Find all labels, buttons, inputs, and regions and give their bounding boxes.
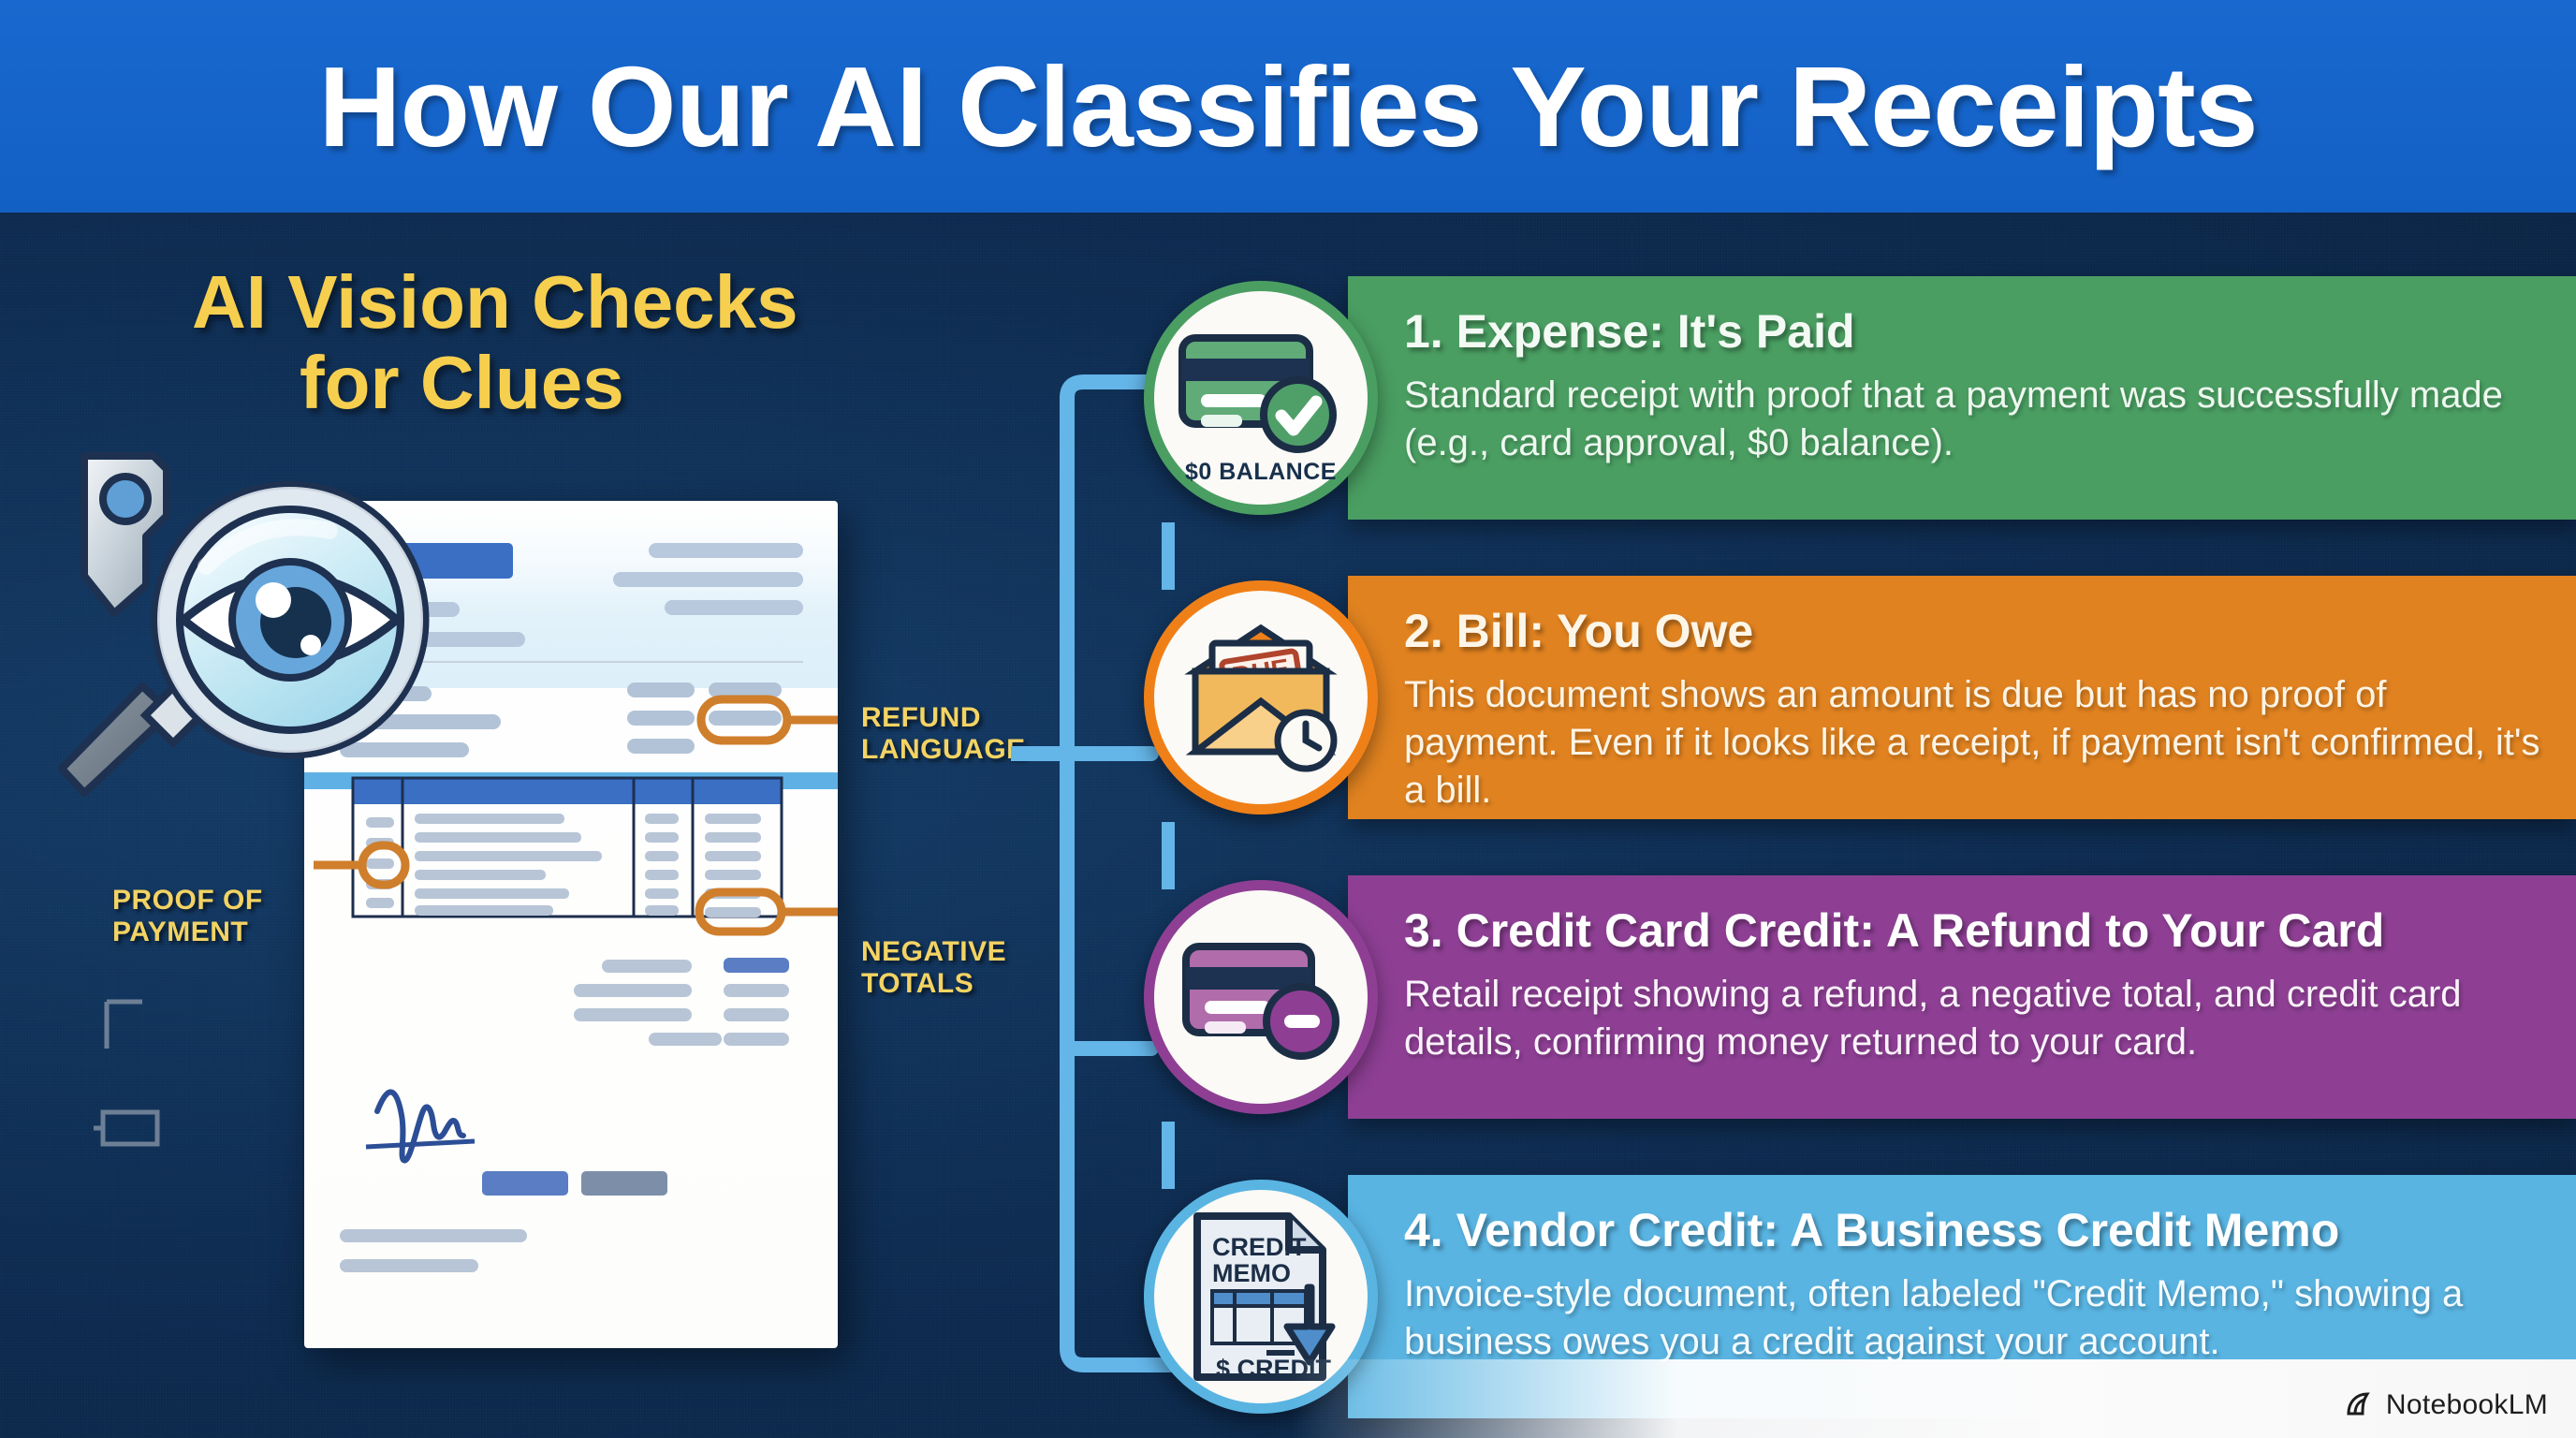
category-band-bill[interactable]: 2. Bill: You Owe This document shows an … [1348,576,2576,819]
category-band-credit-card-credit[interactable]: 3. Credit Card Credit: A Refund to Your … [1348,875,2576,1119]
notebooklm-logo-icon [2345,1389,2377,1421]
left-title-line1: AI Vision Checks [192,260,798,344]
callout-line-1: PROOF OF [112,885,337,917]
category-description: This document shows an amount is due but… [1404,671,2548,815]
page-title: How Our AI Classifies Your Receipts [318,41,2257,172]
category-band-expense[interactable]: 1. Expense: It's Paid Standard receipt w… [1348,276,2576,520]
category-description: Retail receipt showing a refund, a negat… [1404,971,2548,1066]
svg-text:CREDIT: CREDIT [1212,1233,1307,1261]
envelope-due-clock-icon: DUE [1167,604,1354,791]
badge-expense[interactable]: $0 BALANCE [1144,281,1378,515]
category-title: 1. Expense: It's Paid [1404,304,2548,359]
category-description: Standard receipt with proof that a payme… [1404,372,2548,467]
decorative-bracket-icon [94,992,206,1217]
left-section-title: AI Vision Checks for Clues [192,262,1034,424]
callout-proof-of-payment: PROOF OF PAYMENT [112,885,337,947]
callout-line-2: PAYMENT [112,917,337,948]
credit-card-minus-icon [1167,903,1354,1091]
badge-bill[interactable]: DUE [1144,580,1378,814]
category-title: 4. Vendor Credit: A Business Credit Memo [1404,1203,2548,1257]
left-title-line2: for Clues [300,343,1034,423]
infographic-canvas: How Our AI Classifies Your Receipts AI V… [0,0,2576,1438]
watermark: NotebookLM [2345,1389,2548,1421]
watermark-text: NotebookLM [2386,1389,2548,1421]
magnifier-eye-icon [56,426,449,819]
category-title: 3. Credit Card Credit: A Refund to Your … [1404,903,2548,958]
svg-text:MEMO: MEMO [1212,1259,1291,1287]
category-title: 2. Bill: You Owe [1404,604,2548,658]
badge-credit-card-credit[interactable] [1144,880,1378,1114]
badge-label: $0 BALANCE [1154,459,1368,486]
header-banner: How Our AI Classifies Your Receipts [0,0,2576,213]
category-description: Invoice-style document, often labeled "C… [1404,1270,2548,1366]
